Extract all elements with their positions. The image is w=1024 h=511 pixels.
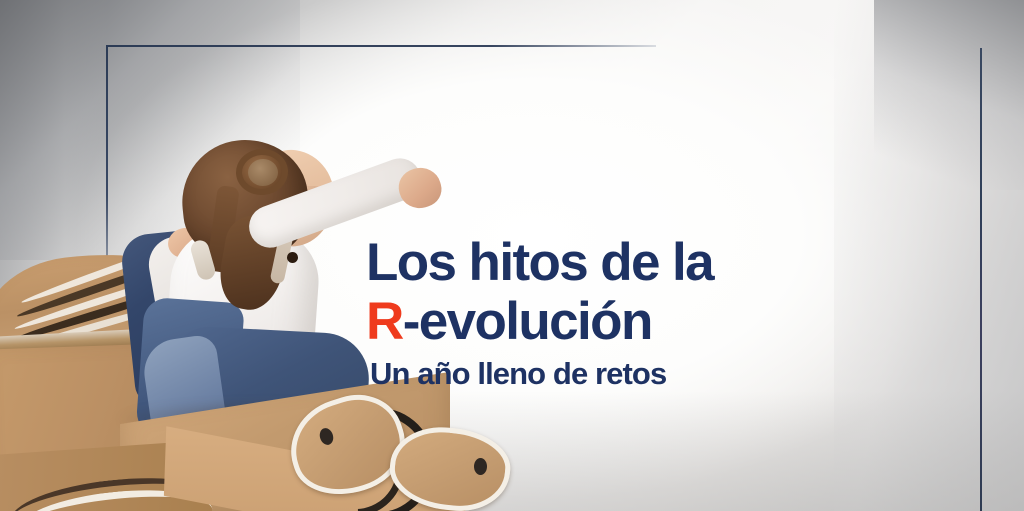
title-line-1: Los hitos de la xyxy=(366,236,786,289)
background-right-top-vignette xyxy=(874,0,1024,190)
title-line-2: R-evolución xyxy=(366,295,786,348)
frame-right-rule xyxy=(980,48,982,511)
title-line-2-rest: -evolución xyxy=(403,292,652,351)
title-block: Los hitos de la R-evolución Un año lleno… xyxy=(366,236,786,389)
title-accent-letter: R xyxy=(366,292,403,351)
aviator-cap-button xyxy=(287,252,298,263)
propeller-blade-dot xyxy=(474,458,487,475)
goggles-lens xyxy=(248,159,278,186)
slide-canvas: Los hitos de la R-evolución Un año lleno… xyxy=(0,0,1024,511)
subtitle: Un año lleno de retos xyxy=(370,358,786,389)
